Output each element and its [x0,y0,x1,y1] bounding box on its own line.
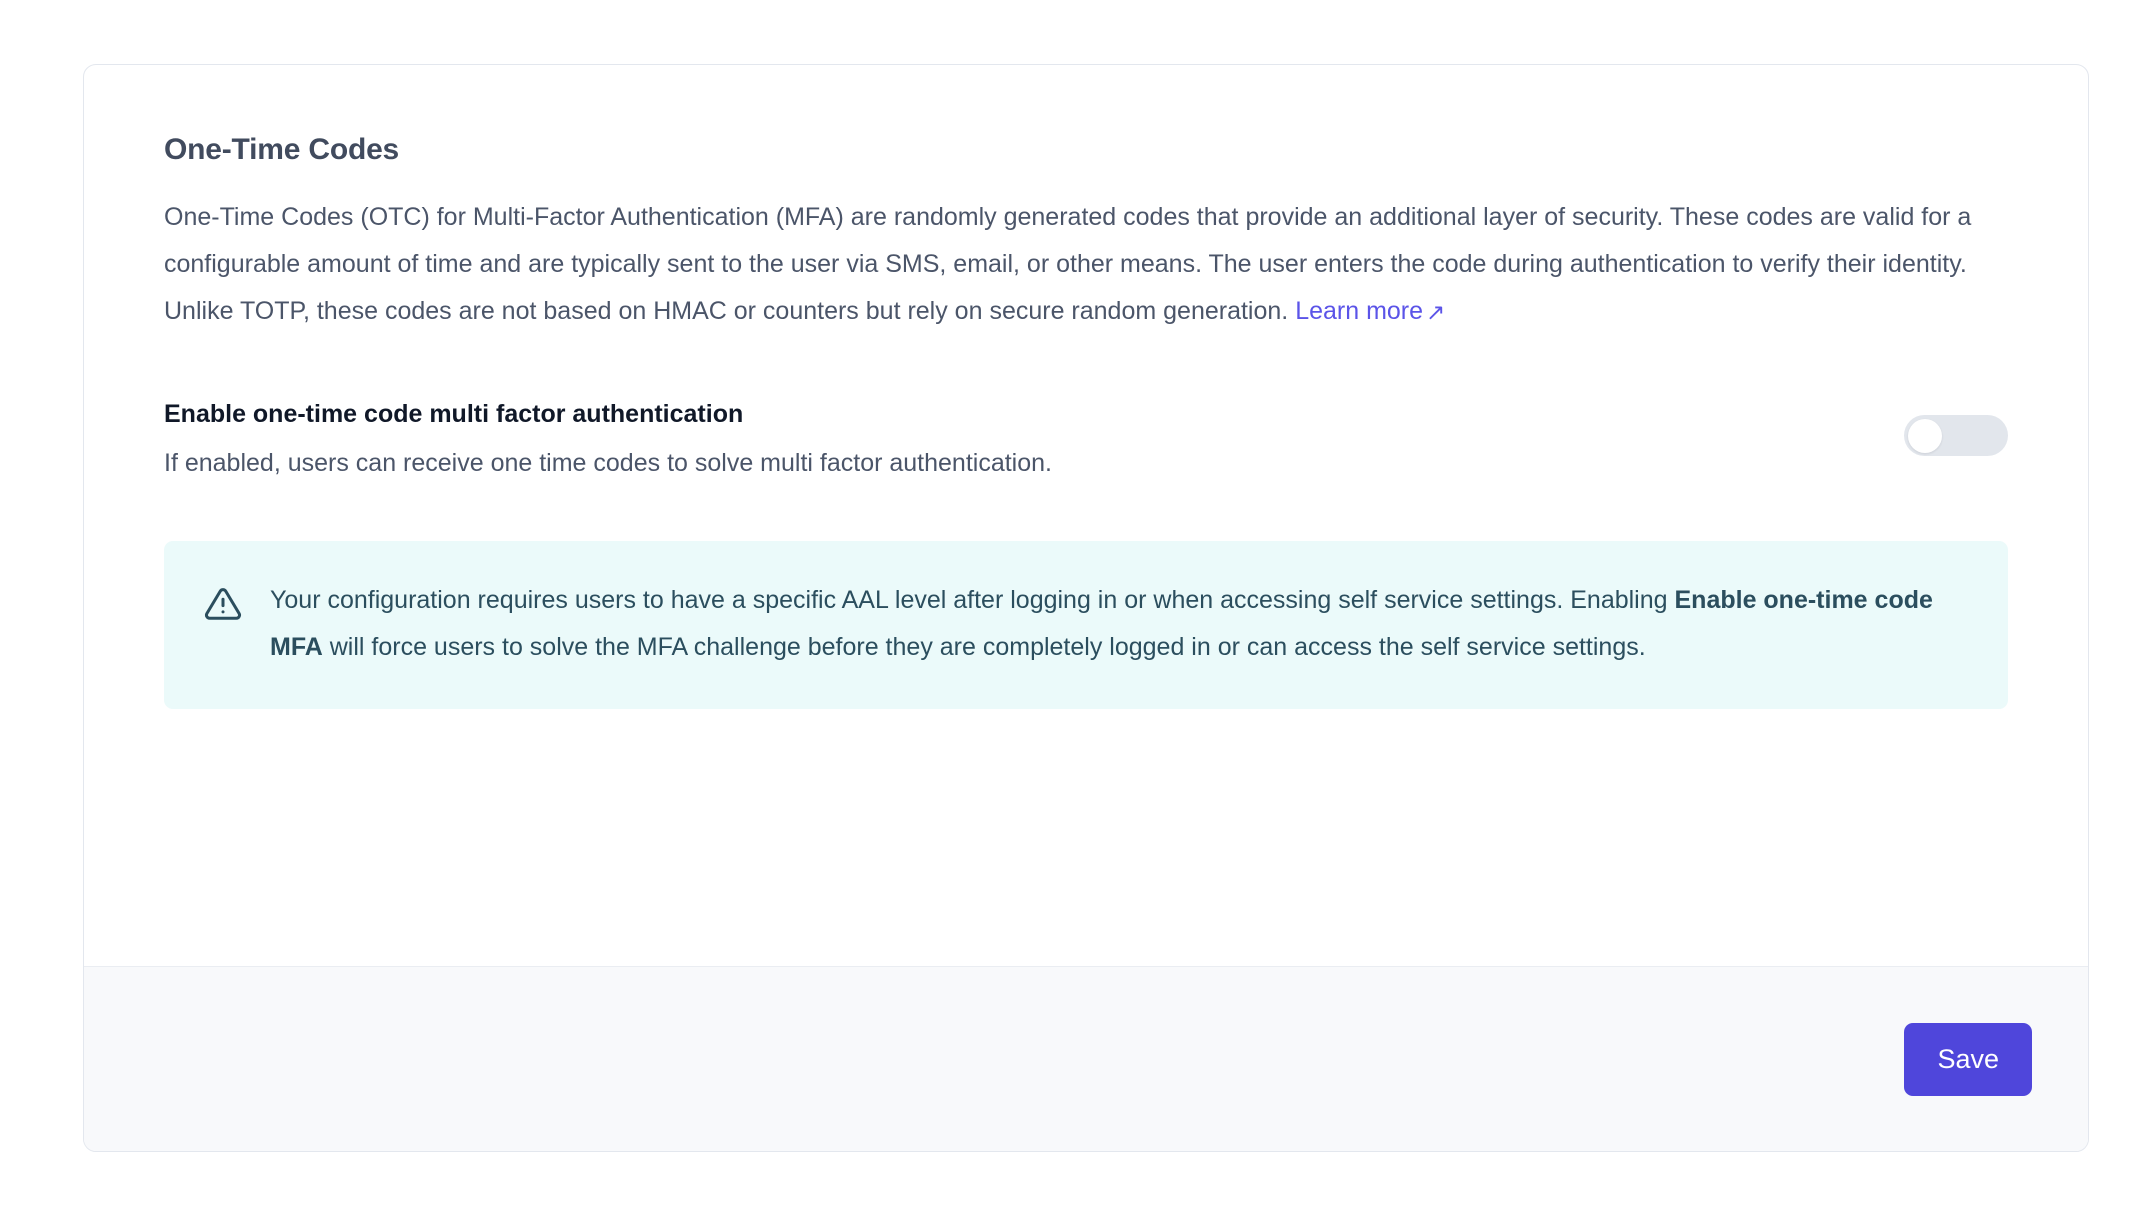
setting-row: Enable one-time code multi factor authen… [164,399,2008,478]
setting-label: Enable one-time code multi factor authen… [164,399,1052,429]
learn-more-label: Learn more [1295,297,1423,325]
learn-more-link[interactable]: Learn more↗ [1295,297,1445,325]
warning-callout-text: Your configuration requires users to hav… [270,577,1968,671]
setting-texts: Enable one-time code multi factor authen… [164,399,1052,478]
page-title: One-Time Codes [164,132,2008,168]
toggle-knob [1908,419,1942,453]
warning-text-before: Your configuration requires users to hav… [270,586,1675,614]
save-button[interactable]: Save [1904,1023,2032,1096]
section-description: One-Time Codes (OTC) for Multi-Factor Au… [164,194,2008,335]
warning-callout: Your configuration requires users to hav… [164,541,2008,709]
section-description-text: One-Time Codes (OTC) for Multi-Factor Au… [164,203,1971,325]
external-link-arrow-icon: ↗ [1426,289,1445,336]
warning-triangle-icon [204,585,242,623]
card-footer: Save [84,966,2088,1151]
setting-description: If enabled, users can receive one time c… [164,448,1052,478]
page-root: One-Time Codes One-Time Codes (OTC) for … [0,0,2146,1218]
one-time-codes-settings-card: One-Time Codes One-Time Codes (OTC) for … [83,64,2089,1152]
warning-text-after: will force users to solve the MFA challe… [323,633,1646,661]
enable-one-time-code-mfa-toggle[interactable] [1904,415,2008,456]
card-body: One-Time Codes One-Time Codes (OTC) for … [84,65,2088,966]
